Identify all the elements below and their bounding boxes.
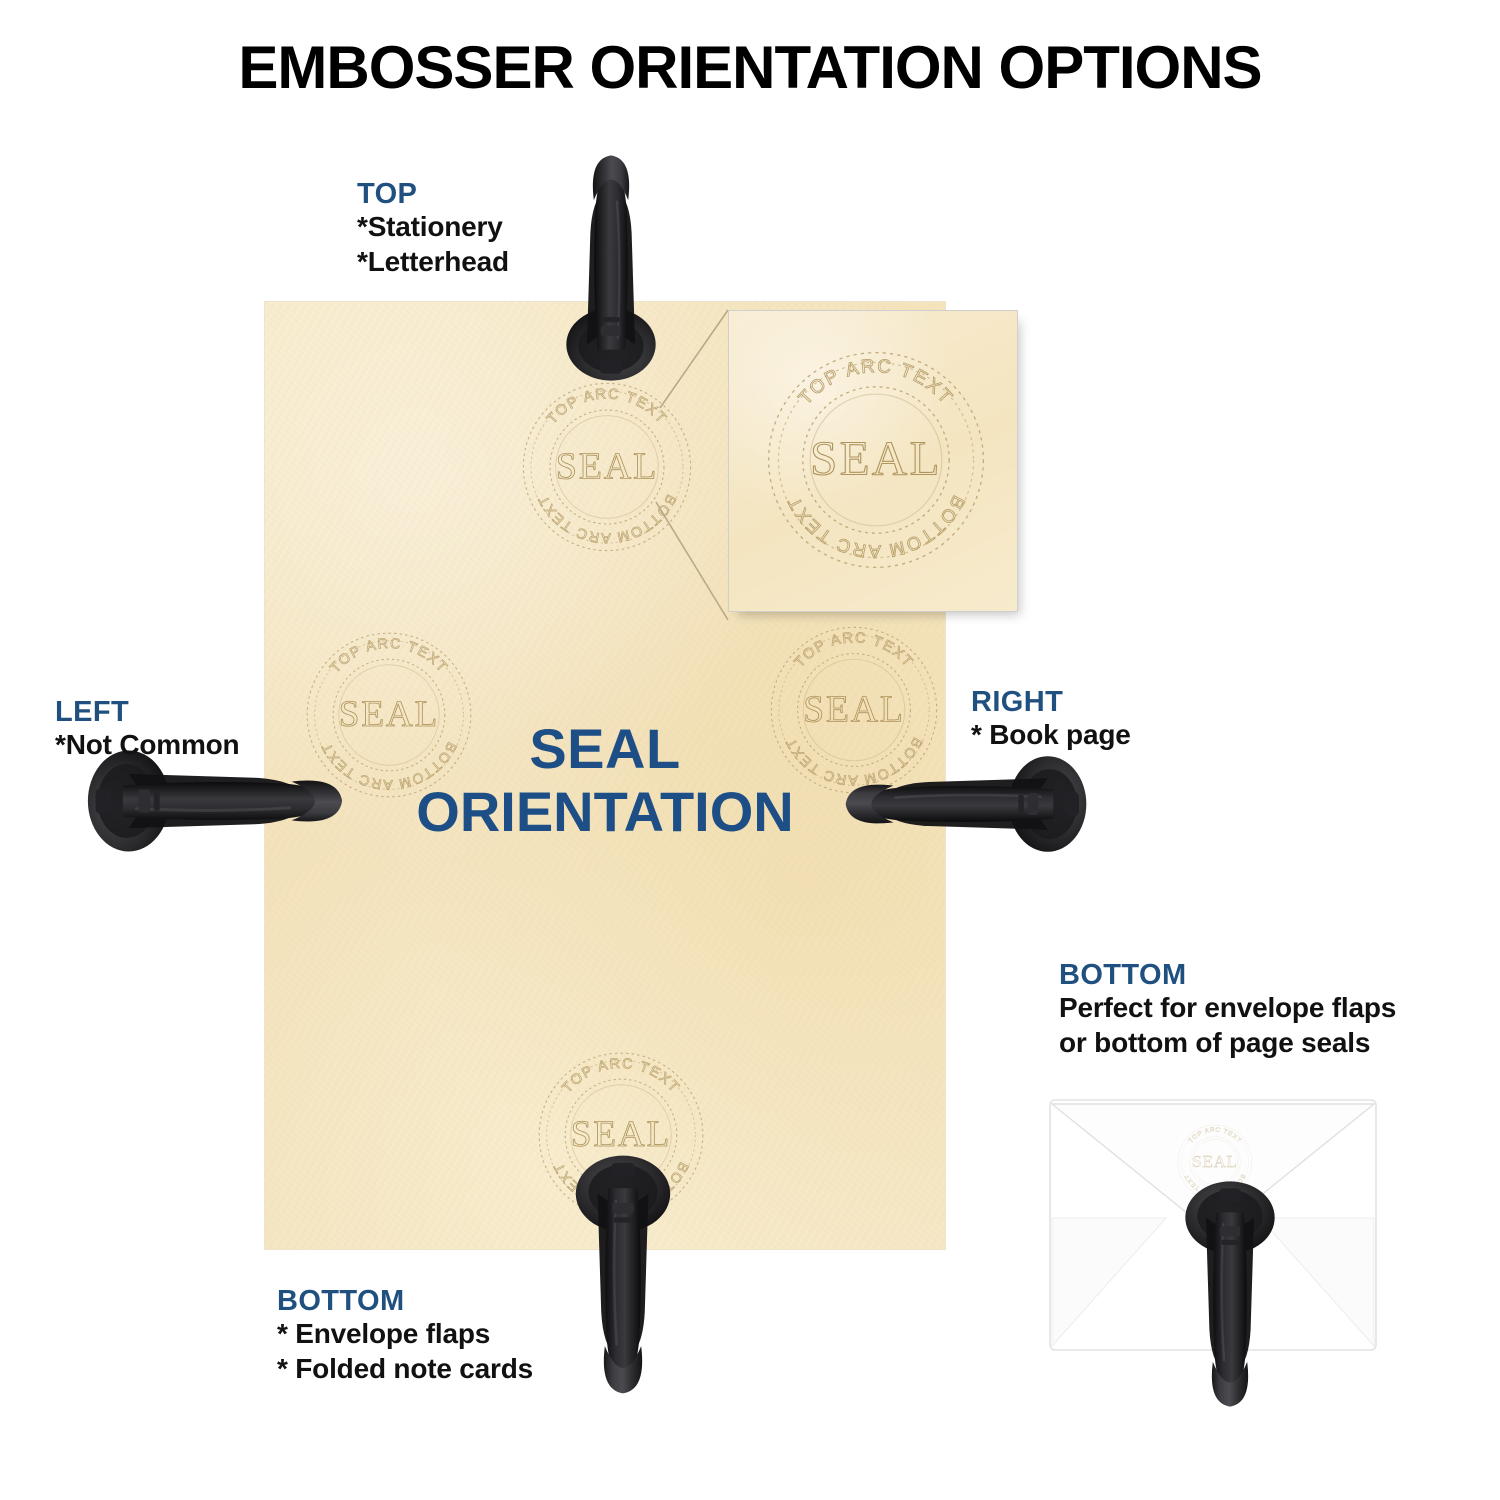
label-top-line-2: *Letterhead [357, 245, 509, 280]
label-bottom-left: BOTTOM * Envelope flaps * Folded note ca… [277, 1285, 533, 1387]
label-bottom-left-line-1: * Envelope flaps [277, 1317, 533, 1352]
embossed-seal-magnified [754, 338, 998, 582]
label-bottom-right-line-2: or bottom of page seals [1059, 1026, 1396, 1061]
label-bottom-right-heading: BOTTOM [1059, 959, 1396, 991]
page-title: EMBOSSER ORIENTATION OPTIONS [0, 33, 1500, 102]
embosser-envelope[interactable] [1176, 1178, 1284, 1410]
label-bottom-left-heading: BOTTOM [277, 1285, 533, 1317]
label-top-heading: TOP [357, 178, 509, 210]
label-right: RIGHT * Book page [971, 686, 1131, 753]
label-left: LEFT *Not Common [55, 696, 239, 763]
label-top-line-1: *Stationery [357, 210, 509, 245]
label-right-heading: RIGHT [971, 686, 1131, 718]
embossed-seal-top: TOP ARC TEXT BOTTOM ARC TEXT SEAL [512, 372, 702, 562]
seal-orientation-caption: SEAL ORIENTATION [330, 718, 880, 843]
seal-orientation-line1: SEAL [330, 718, 880, 781]
seal-zoom-callout [728, 310, 1018, 612]
label-left-line-1: *Not Common [55, 728, 239, 763]
label-bottom-left-line-2: * Folded note cards [277, 1352, 533, 1387]
seal-orientation-line2: ORIENTATION [330, 781, 880, 844]
label-top: TOP *Stationery *Letterhead [357, 178, 509, 280]
embosser-bottom[interactable] [560, 1152, 686, 1397]
embosser-right[interactable] [842, 745, 1090, 863]
embosser-top[interactable] [548, 152, 674, 384]
label-bottom-right: BOTTOM Perfect for envelope flaps or bot… [1059, 959, 1396, 1061]
label-right-line-1: * Book page [971, 718, 1131, 753]
label-bottom-right-line-1: Perfect for envelope flaps [1059, 991, 1396, 1026]
label-left-heading: LEFT [55, 696, 239, 728]
